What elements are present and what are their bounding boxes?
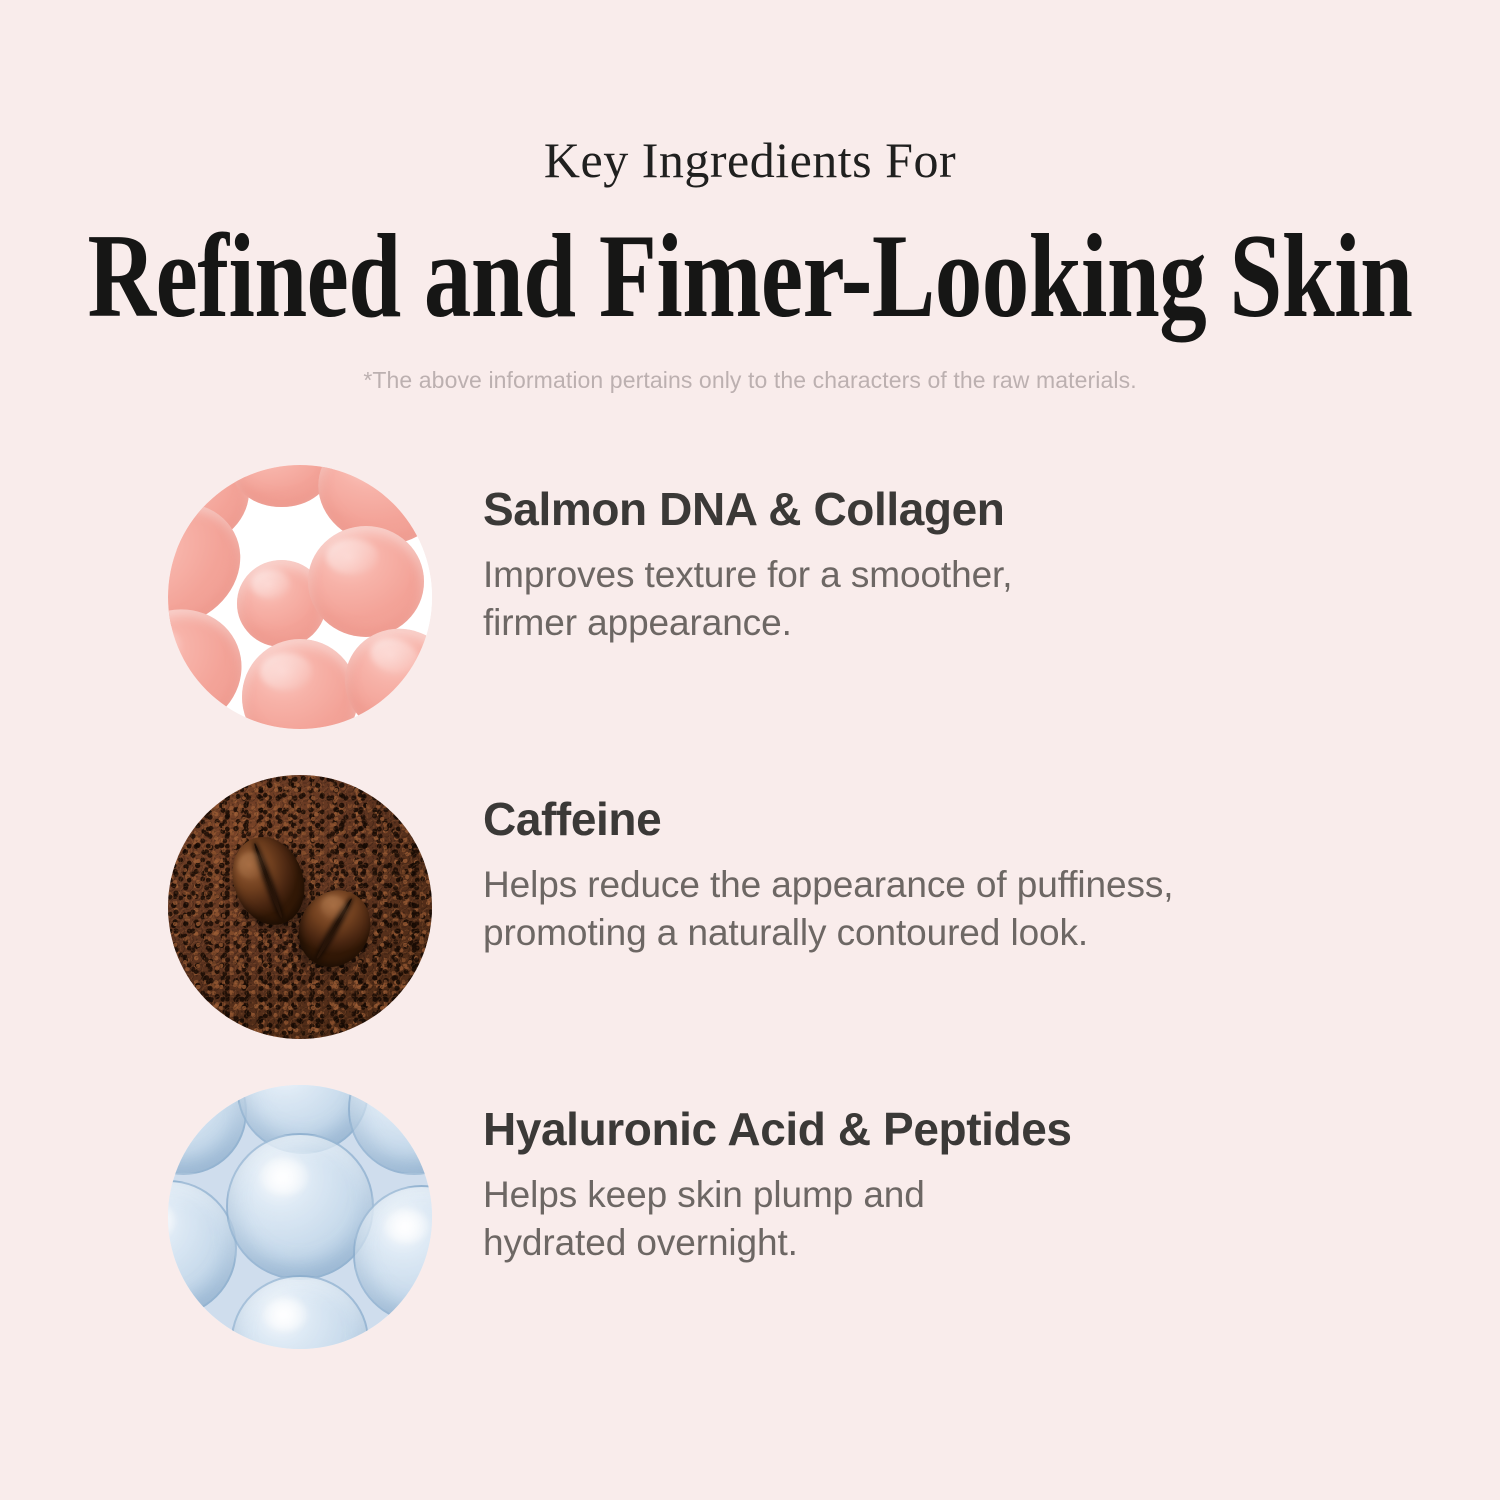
ingredient-copy: Salmon DNA & Collagen Improves texture f…: [483, 485, 1383, 647]
ingredient-copy: Caffeine Helps reduce the appearance of …: [483, 795, 1383, 957]
coffee-grounds-canvas: [168, 775, 432, 1039]
pink-capsules-image: [168, 465, 432, 729]
capsule-shape: [308, 526, 424, 637]
ingredient-title: Hyaluronic Acid & Peptides: [483, 1105, 1383, 1155]
sphere-shape: [231, 1275, 368, 1349]
poster-header: Key Ingredients For Refined and Fimer-Lo…: [0, 0, 1500, 394]
ingredient-description: Improves texture for a smoother, firmer …: [483, 551, 1383, 647]
pink-capsules-canvas: [168, 465, 432, 729]
blue-spheres-canvas: [168, 1085, 432, 1349]
list-item: Salmon DNA & Collagen Improves texture f…: [0, 455, 1500, 765]
ingredient-copy: Hyaluronic Acid & Peptides Helps keep sk…: [483, 1105, 1383, 1267]
ingredients-poster: Key Ingredients For Refined and Fimer-Lo…: [0, 0, 1500, 1500]
capsule-shape: [242, 639, 358, 729]
ingredient-description: Helps reduce the appearance of puffiness…: [483, 861, 1383, 957]
list-item: Hyaluronic Acid & Peptides Helps keep sk…: [0, 1075, 1500, 1385]
ingredient-title: Caffeine: [483, 795, 1383, 845]
disclaimer-text: *The above information pertains only to …: [0, 367, 1500, 395]
list-item: Caffeine Helps reduce the appearance of …: [0, 765, 1500, 1075]
eyebrow-text: Key Ingredients For: [0, 135, 1500, 185]
coffee-grounds-image: [168, 775, 432, 1039]
ingredient-description: Helps keep skin plump and hydrated overn…: [483, 1171, 1383, 1267]
page-title: Refined and Fimer-Looking Skin: [0, 215, 1500, 337]
sphere-shape: [168, 1085, 247, 1175]
blue-spheres-image: [168, 1085, 432, 1349]
ingredient-list: Salmon DNA & Collagen Improves texture f…: [0, 455, 1500, 1385]
ingredient-title: Salmon DNA & Collagen: [483, 485, 1383, 535]
sphere-shape: [226, 1133, 374, 1281]
sphere-shape: [348, 1085, 432, 1175]
